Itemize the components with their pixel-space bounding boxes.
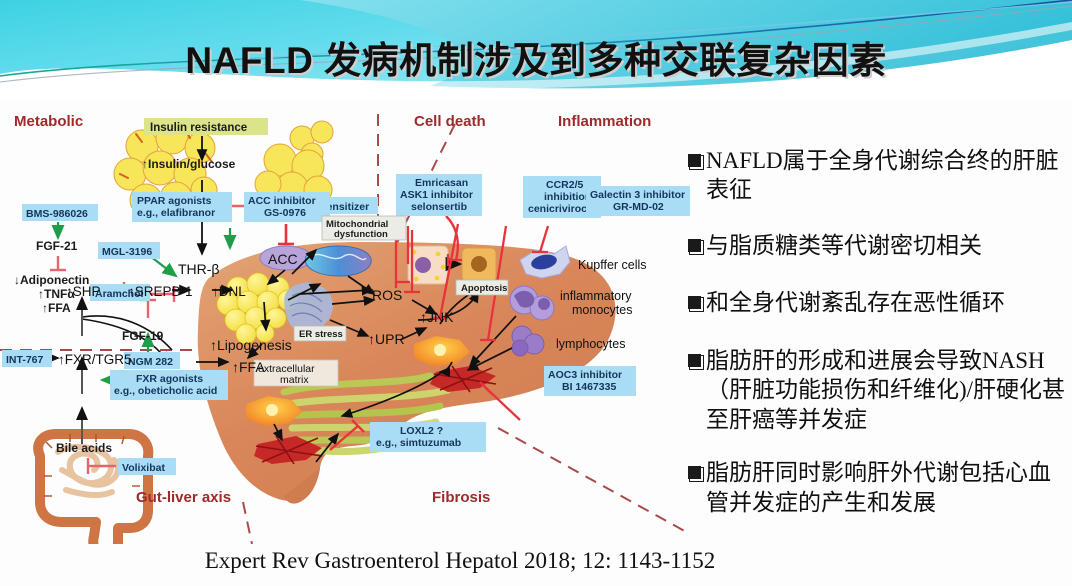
svg-text:Galectin 3 inhibitor: Galectin 3 inhibitor (590, 189, 685, 201)
svg-text:ACC inhibitor: ACC inhibitor (248, 195, 316, 207)
box-ppar-agonists: PPAR agonists e.g., elafibranor (132, 192, 232, 222)
svg-text:BMS-986026: BMS-986026 (26, 208, 88, 220)
svg-text:MGL-3196: MGL-3196 (102, 246, 152, 258)
list-item: 与脂质糖类等代谢密切相关 (688, 231, 1068, 260)
label-dnl: ↑DNL (212, 284, 246, 299)
slide-title: NAFLD 发病机制涉及到多种交联复杂因素 (0, 30, 1072, 84)
svg-text:selonsertib: selonsertib (411, 201, 467, 213)
svg-text:GS-0976: GS-0976 (264, 207, 306, 219)
label-thr-beta: THR-β (178, 261, 220, 277)
box-fxr-agonists: FXR agonists e.g., obeticholic acid (110, 370, 228, 400)
bullet-square-icon (688, 354, 701, 367)
svg-text:AOC3 inhibitor: AOC3 inhibitor (548, 369, 622, 381)
list-item: NAFLD属于全身代谢综合终的肝脏表征 (688, 146, 1068, 205)
section-fibrosis: Fibrosis (432, 489, 490, 506)
box-mitochondrial-dysfunction: Mitochondrial dysfunction (322, 216, 406, 240)
svg-text:cenicriviroc: cenicriviroc (528, 203, 587, 215)
svg-text:FXR agonists: FXR agonists (136, 373, 203, 385)
label-ffa-liver: ↑FFA (232, 359, 265, 375)
nafld-pathogenesis-figure: Metabolic Cell death Inflammation Gut-li… (0, 104, 690, 544)
bullet-square-icon (688, 239, 701, 252)
label-lipogenesis: ↑Lipogenesis (210, 337, 292, 353)
box-ngm-282: NGM 282 (124, 352, 180, 369)
box-emricasan-ask1: Emricasan ASK1 inhibitor selonsertib (396, 174, 482, 216)
bullet-square-icon (688, 466, 701, 479)
label-ffa-left: ↑FFA (42, 301, 71, 315)
box-insulin-resistance: Insulin resistance (144, 118, 268, 135)
label-lymphocytes: lymphocytes (556, 337, 625, 351)
bullet-text: 与脂质糖类等代谢密切相关 (706, 231, 982, 260)
box-mgl-3196: MGL-3196 (98, 242, 160, 259)
list-item: 脂肪肝同时影响肝外代谢包括心血管并发症的产生和发展 (688, 458, 1068, 517)
label-jnk: ↑JNK (420, 309, 454, 325)
slide-root: NAFLD 发病机制涉及到多种交联复杂因素 (0, 0, 1072, 586)
label-ros: ROS (372, 287, 402, 303)
list-item: 和全身代谢紊乱存在恶性循环 (688, 288, 1068, 317)
bullet-text: NAFLD属于全身代谢综合终的肝脏表征 (706, 146, 1068, 205)
svg-text:CCR2/5: CCR2/5 (546, 179, 584, 191)
svg-text:Emricasan: Emricasan (415, 177, 468, 189)
label-fgf-19: FGF-19 (122, 329, 164, 343)
label-kupffer-cells: Kupffer cells (578, 258, 647, 272)
svg-text:dysfunction: dysfunction (334, 229, 388, 240)
box-extracellular-matrix: extracellular matrix (254, 360, 338, 386)
svg-text:ASK1 inhibitor: ASK1 inhibitor (400, 189, 473, 201)
label-inflammatory: inflammatory (560, 289, 632, 303)
section-inflammation: Inflammation (558, 113, 651, 130)
hepatocyte-healthy (408, 246, 448, 284)
bullet-square-icon (688, 296, 701, 309)
svg-text:BI 1467335: BI 1467335 (562, 381, 616, 393)
svg-text:Apoptosis: Apoptosis (461, 283, 507, 294)
svg-text:ER stress: ER stress (299, 329, 343, 340)
box-loxl2: LOXL2 ? e.g., simtuzumab (370, 422, 486, 452)
bullet-list: NAFLD属于全身代谢综合终的肝脏表征 与脂质糖类等代谢密切相关 和全身代谢紊乱… (688, 146, 1068, 537)
svg-text:e.g., elafibranor: e.g., elafibranor (137, 207, 215, 219)
svg-text:NGM 282: NGM 282 (128, 356, 173, 368)
bullet-square-icon (688, 154, 701, 167)
label-srepb-1: ↑SREPB-1 (128, 284, 193, 299)
label-bile-acids: Bile acids (56, 441, 112, 455)
svg-text:e.g., simtuzumab: e.g., simtuzumab (376, 437, 461, 449)
section-cell-death: Cell death (414, 113, 486, 130)
bullet-text: 脂肪肝的形成和进展会导致NASH（肝脏功能损伤和纤维化)/肝硬化甚至肝癌等并发症 (706, 346, 1068, 434)
label-monocytes: monocytes (572, 303, 632, 317)
svg-text:inhibitior: inhibitior (544, 191, 589, 203)
svg-text:GR-MD-02: GR-MD-02 (613, 201, 664, 213)
box-int-767: INT-767 (2, 350, 52, 367)
label-fxr-tgr5: ↑FXR/TGR5 (58, 352, 132, 367)
bullet-text: 脂肪肝同时影响肝外代谢包括心血管并发症的产生和发展 (706, 458, 1068, 517)
label-insulin-glucose: ↑Insulin/glucose (142, 157, 236, 171)
svg-text:INT-767: INT-767 (6, 354, 44, 366)
section-gut-liver-axis: Gut-liver axis (136, 489, 231, 506)
box-volixibat: Volixibat (118, 458, 176, 475)
box-aoc3-inhibitor: AOC3 inhibitor BI 1467335 (544, 366, 636, 396)
box-galectin-3-inhibitor: Galectin 3 inhibitor GR-MD-02 (586, 186, 690, 216)
bullet-text: 和全身代谢紊乱存在恶性循环 (706, 288, 1005, 317)
box-apoptosis: Apoptosis (456, 280, 508, 295)
hepatocyte-apoptotic (462, 248, 496, 282)
svg-text:LOXL2 ?: LOXL2 ? (400, 425, 443, 437)
section-metabolic: Metabolic (14, 113, 83, 130)
label-fgf-21: FGF-21 (36, 239, 78, 253)
svg-text:PPAR agonists: PPAR agonists (137, 195, 212, 207)
label-acc: ACC (268, 251, 298, 267)
box-er-stress: ER stress (294, 326, 346, 341)
svg-text:Insulin resistance: Insulin resistance (150, 122, 247, 134)
label-upr: ↑UPR (368, 331, 405, 347)
citation-text: Expert Rev Gastroenterol Hepatol 2018; 1… (0, 548, 920, 574)
svg-text:Volixibat: Volixibat (122, 462, 165, 474)
label-shp: ↑SHP (66, 284, 101, 299)
box-acc-inhibitor: ACC inhibitor GS-0976 (244, 192, 330, 222)
svg-text:e.g., obeticholic acid: e.g., obeticholic acid (114, 385, 217, 397)
svg-text:matrix: matrix (280, 374, 309, 386)
list-item: 脂肪肝的形成和进展会导致NASH（肝脏功能损伤和纤维化)/肝硬化甚至肝癌等并发症 (688, 346, 1068, 434)
box-bms-986026: BMS-986026 (22, 204, 98, 221)
